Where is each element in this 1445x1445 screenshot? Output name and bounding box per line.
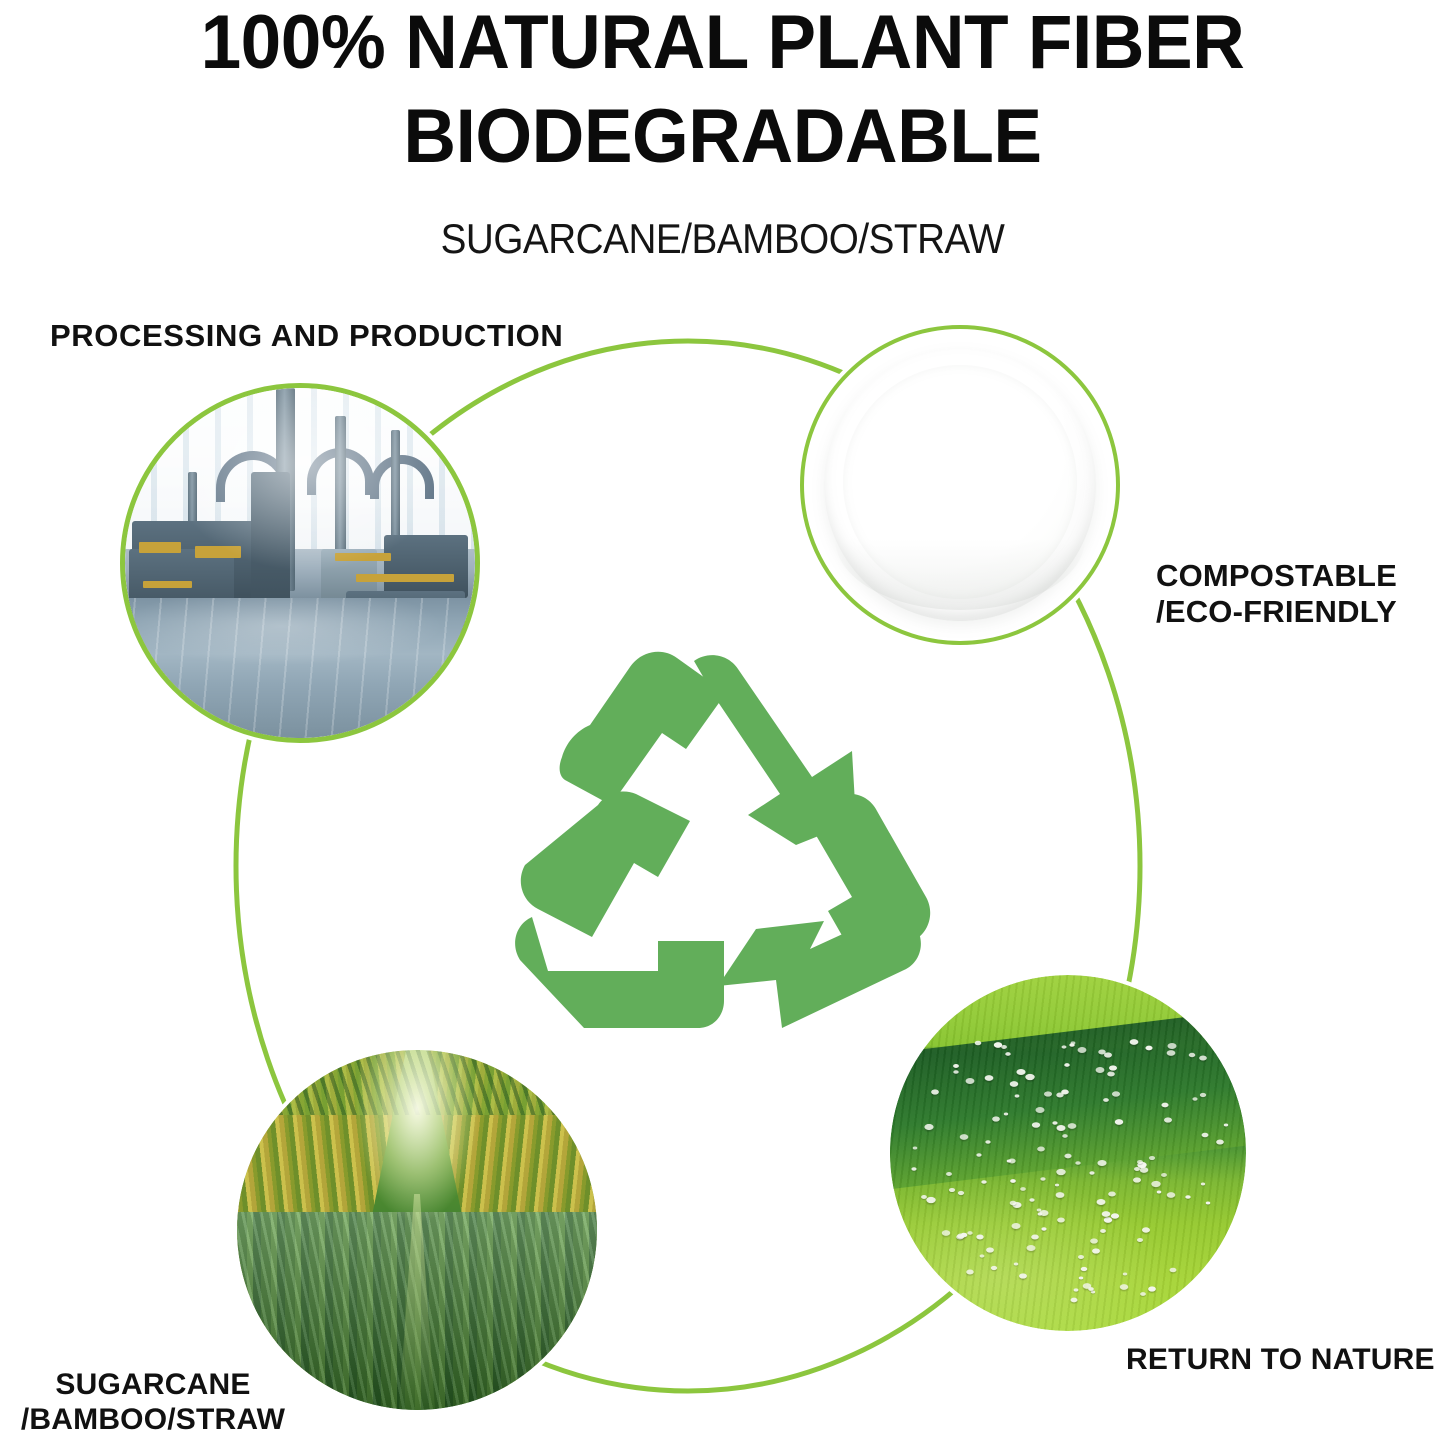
sheep-speck [1095,1067,1104,1073]
sheep-speck [1021,1187,1027,1191]
sheep-speck [960,1134,969,1140]
node-processing-and-production [120,383,480,743]
sheep-speck [1078,1255,1084,1259]
sheep-speck [931,1089,939,1094]
sheep-speck [1167,1193,1176,1199]
sheep-speck [958,1191,964,1195]
sheep-speck [1013,1262,1018,1265]
cycle-diagram [0,0,1445,1445]
sheep-speck [986,1247,994,1252]
node-sugarcane-bamboo-straw [237,1050,597,1410]
sheep-speck [1108,1072,1116,1077]
sheep-speck [1090,1171,1095,1174]
label-processing-and-production: PROCESSING AND PRODUCTION [50,318,563,354]
sheep-speck [1004,1113,1008,1116]
sheep-speck [1109,1065,1117,1070]
sheep-speck [1067,1123,1076,1129]
sheep-speck [1185,1195,1190,1199]
sheep-speck [1139,1167,1148,1173]
sheep-speck [1152,1181,1161,1187]
sugarcane-field-photo [237,1050,597,1410]
sheep-speck [1001,1045,1007,1049]
sheep-speck [1037,1146,1045,1151]
sheep-speck [1069,1044,1074,1048]
sheep-speck [1044,1091,1052,1096]
sheep-speck [1145,1046,1152,1051]
sheep-speck [1104,1052,1112,1057]
sheep-speck [1111,1213,1119,1218]
label-sugarcane-bamboo-straw: SUGARCANE /BAMBOO/STRAW [8,1368,298,1438]
sheep-speck [1103,1217,1111,1223]
sheep-speck [1026,1245,1035,1251]
sheep-speck [1061,1045,1066,1048]
sheep-speck [1081,1267,1088,1271]
sheep-speck [1040,1178,1045,1182]
sheep-speck [913,1147,918,1150]
sheep-speck [1167,1050,1176,1056]
sheep-speck [1079,1277,1084,1280]
sheep-speck [1064,1063,1070,1067]
sheep-speck [1134,1167,1140,1171]
sheep-speck [1201,1133,1208,1138]
sheep-speck [1161,1173,1167,1177]
sheep-speck [1133,1177,1141,1182]
recycle-icon [480,645,970,1035]
sheep-speck [1071,1297,1078,1302]
sheep-speck [1097,1199,1106,1205]
sheep-speck [1041,1227,1046,1230]
sheep-speck [1167,1043,1176,1049]
sheep-speck [911,1168,916,1171]
sheep-speck [1005,1052,1011,1056]
sheep-speck [1200,1182,1204,1185]
sheep-speck [927,1197,936,1203]
sheep-speck [968,1232,973,1236]
sheep-speck [1088,1287,1094,1291]
sheep-speck [1057,1217,1065,1222]
sheep-speck [1037,1212,1042,1215]
sheep-speck [1030,1198,1035,1201]
sheep-speck [1026,1074,1035,1080]
label-sugarcane-line-2: /BAMBOO/STRAW [8,1403,298,1438]
sheep-speck [1016,1069,1025,1075]
sheep-speck [1148,1287,1156,1292]
sheep-speck [942,1230,950,1236]
sheep-speck [953,1070,958,1074]
sheep-speck [977,1154,982,1157]
sheep-speck [1032,1235,1040,1240]
sheep-speck [1200,1093,1206,1097]
sheep-speck [1169,1267,1176,1272]
sheep-speck [1019,1273,1027,1278]
sheep-speck [1162,1102,1169,1107]
label-compostable-line-2: /ECO-FRIENDLY [1156,594,1397,630]
sheep-speck [1057,1169,1066,1175]
sheep-speck [1119,1284,1128,1290]
sheep-speck [1092,1249,1100,1254]
sheep-speck [1137,1237,1143,1241]
sheep-speck [1074,1288,1079,1291]
sheep-speck [953,1064,959,1068]
sheep-speck [986,1140,991,1144]
sheep-speck [949,1187,955,1191]
sheep-speck [1077,1047,1086,1053]
sheep-speck [1199,1056,1207,1061]
sheep-speck [1010,1081,1019,1087]
sheep-speck [967,1270,974,1275]
sheep-speck [1100,1229,1106,1233]
sheep-speck [1216,1140,1224,1145]
sheep-speck [981,1180,986,1184]
node-compostable-eco-friendly [800,325,1120,645]
sheep-speck [1056,1192,1065,1198]
sheep-speck [1115,1119,1123,1125]
sheep-speck [976,1234,983,1239]
sheep-speck [1103,1098,1109,1102]
sheep-speck [992,1117,1000,1122]
label-compostable-eco-friendly: COMPOSTABLE /ECO-FRIENDLY [1156,558,1397,630]
label-return-to-nature: RETURN TO NATURE [1126,1343,1435,1378]
sheep-speck [1157,1190,1162,1193]
sheep-speck [1065,1154,1072,1159]
sheep-speck [1164,1117,1172,1122]
sheep-speck [946,1172,952,1176]
sheep-speck [957,1234,965,1239]
sheep-speck [965,1078,974,1084]
sheep-speck [1032,1122,1040,1128]
sheep-speck [1192,1097,1197,1100]
sheep-speck [975,1041,982,1045]
sheep-speck [1057,1125,1066,1131]
sheep-speck [1035,1107,1044,1113]
sheep-speck [1108,1192,1116,1197]
sheep-speck [1140,1292,1146,1296]
sheep-speck [1063,1134,1069,1138]
sheep-speck [1112,1091,1120,1096]
sheep-speck [924,1124,933,1130]
sheep-speck [1010,1200,1017,1204]
sheep-speck [1011,1223,1020,1229]
white-plate-photo [824,349,1096,621]
sheep-speck [1052,1121,1057,1125]
sheep-speck [1142,1227,1150,1232]
sheep-speck [991,1266,997,1270]
sheep-speck [1130,1039,1139,1045]
sheep-speck [1206,1201,1211,1204]
sheep-speck [1188,1053,1195,1057]
sheep-speck [1224,1124,1228,1127]
sheep-speck [1122,1272,1127,1275]
factory-interior-photo [125,388,475,738]
sheep-speck [1057,1093,1064,1098]
sheep-speck [1010,1179,1016,1183]
sheep-speck [1102,1211,1111,1217]
label-compostable-line-1: COMPOSTABLE [1156,558,1397,594]
sheep-speck [1091,1291,1095,1294]
sheep-speck [1137,1160,1143,1164]
sheep-speck [1075,1161,1080,1165]
sheep-speck [1014,1094,1019,1097]
label-sugarcane-line-1: SUGARCANE [8,1368,298,1403]
sheep-speck [1054,1184,1058,1187]
sheep-speck [985,1075,994,1081]
sheep-speck [1149,1156,1155,1160]
sheep-speck [979,1255,984,1258]
sheep-speck [1098,1160,1107,1166]
sheep-speck [1090,1238,1098,1243]
